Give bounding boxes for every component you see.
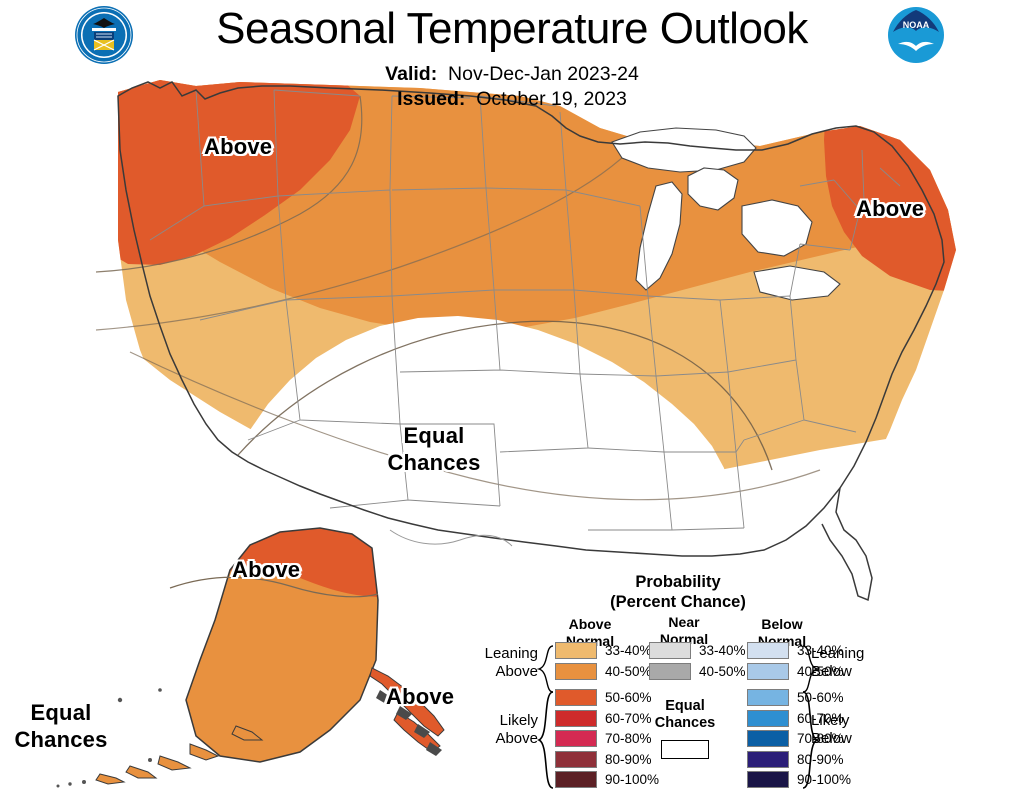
legend-swatch-below-normal-60-70 xyxy=(747,710,789,727)
legend-range-above-normal-50-60: 50-60% xyxy=(605,689,652,706)
legend-range-below-normal-33-40: 33-40% xyxy=(797,642,844,659)
valid-value: Nov-Dec-Jan 2023-24 xyxy=(448,63,639,85)
issued-row: Issued: October 19, 2023 xyxy=(0,87,1024,112)
legend-swatch-near-normal-33-40 xyxy=(649,642,691,659)
brace-likely-above xyxy=(537,690,555,790)
legend-range-above-normal-40-50: 40-50% xyxy=(605,663,652,680)
likely-above-l1: Likely xyxy=(466,712,538,730)
leaning-above-l2: Above xyxy=(466,663,538,681)
legend-swatch-below-normal-50-60 xyxy=(747,689,789,706)
legend-title: Probability (Percent Chance) xyxy=(463,572,893,612)
likely-above-l2: Above xyxy=(466,730,538,748)
legend-range-below-normal-70-80: 70-80% xyxy=(797,730,844,747)
legend-swatch-below-normal-40-50 xyxy=(747,663,789,680)
legend-range-below-normal-60-70: 60-70% xyxy=(797,710,844,727)
legend-range-above-normal-60-70: 60-70% xyxy=(605,710,652,727)
legend-swatch-below-normal-33-40 xyxy=(747,642,789,659)
legend-title-line2: (Percent Chance) xyxy=(463,592,893,612)
validity-info: Valid: Nov-Dec-Jan 2023-24 Issued: Octob… xyxy=(0,62,1024,112)
legend-swatch-below-normal-90-100 xyxy=(747,771,789,788)
map-label-equal-chances-aleutians: Equal Chances xyxy=(6,700,116,754)
legend-range-below-normal-50-60: 50-60% xyxy=(797,689,844,706)
col-near-l1: Near xyxy=(645,614,723,631)
legend-eq-l2: Chances xyxy=(639,715,731,732)
map-label-equal-chances-conus: Equal Chances xyxy=(375,423,493,477)
equal-chances-aleutians-line2: Chances xyxy=(14,727,107,752)
alaska-panhandle xyxy=(370,668,444,756)
legend-range-above-normal-80-90: 80-90% xyxy=(605,751,652,768)
legend-range-below-normal-90-100: 90-100% xyxy=(797,771,851,788)
legend-swatch-above-normal-50-60 xyxy=(555,689,597,706)
legend-range-below-normal-80-90: 80-90% xyxy=(797,751,844,768)
legend-range-above-normal-70-80: 70-80% xyxy=(605,730,652,747)
leaning-above-l1: Leaning xyxy=(466,645,538,663)
legend-side-leaning-above: Leaning Above xyxy=(466,645,538,681)
legend-swatch-above-normal-70-80 xyxy=(555,730,597,747)
legend-side-likely-above: Likely Above xyxy=(466,712,538,748)
legend-range-near-normal-40-50: 40-50% xyxy=(699,663,746,680)
map-label-above-northeast: Above xyxy=(856,196,924,222)
col-above-l1: Above xyxy=(551,616,629,633)
legend-swatch-above-normal-80-90 xyxy=(555,751,597,768)
legend-range-above-normal-33-40: 33-40% xyxy=(605,642,652,659)
probability-legend: Probability (Percent Chance) Above Norma… xyxy=(463,572,893,791)
legend-equal-chances-swatch xyxy=(661,740,709,759)
issued-label: Issued: xyxy=(397,88,465,110)
valid-row: Valid: Nov-Dec-Jan 2023-24 xyxy=(0,62,1024,87)
legend-swatch-below-normal-80-90 xyxy=(747,751,789,768)
legend-range-above-normal-90-100: 90-100% xyxy=(605,771,659,788)
legend-swatch-below-normal-70-80 xyxy=(747,730,789,747)
brace-leaning-above xyxy=(537,644,555,694)
equal-chances-line1: Equal xyxy=(404,423,465,448)
equal-chances-line2: Chances xyxy=(387,450,480,475)
legend-swatch-above-normal-90-100 xyxy=(555,771,597,788)
col-below-l1: Below xyxy=(743,616,821,633)
issued-value: October 19, 2023 xyxy=(476,88,627,110)
map-label-above-pacific-northwest: Above xyxy=(204,134,272,160)
valid-label: Valid: xyxy=(385,63,437,85)
legend-swatch-above-normal-33-40 xyxy=(555,642,597,659)
legend-eq-l1: Equal xyxy=(639,698,731,715)
seasonal-temperature-outlook-map: NOAA Seasonal Temperature Outlook Valid:… xyxy=(0,0,1024,791)
legend-range-below-normal-40-50: 40-50% xyxy=(797,663,844,680)
page-title: Seasonal Temperature Outlook xyxy=(0,6,1024,52)
legend-swatch-above-normal-60-70 xyxy=(555,710,597,727)
equal-chances-aleutians-line1: Equal xyxy=(31,700,92,725)
legend-equal-chances-label: Equal Chances xyxy=(639,698,731,733)
legend-swatch-near-normal-40-50 xyxy=(649,663,691,680)
legend-range-near-normal-33-40: 33-40% xyxy=(699,642,746,659)
legend-title-line1: Probability xyxy=(463,572,893,592)
legend-swatch-above-normal-40-50 xyxy=(555,663,597,680)
map-label-above-alaska-panhandle: Above xyxy=(386,684,454,710)
map-label-above-alaska-north: Above xyxy=(232,557,300,583)
